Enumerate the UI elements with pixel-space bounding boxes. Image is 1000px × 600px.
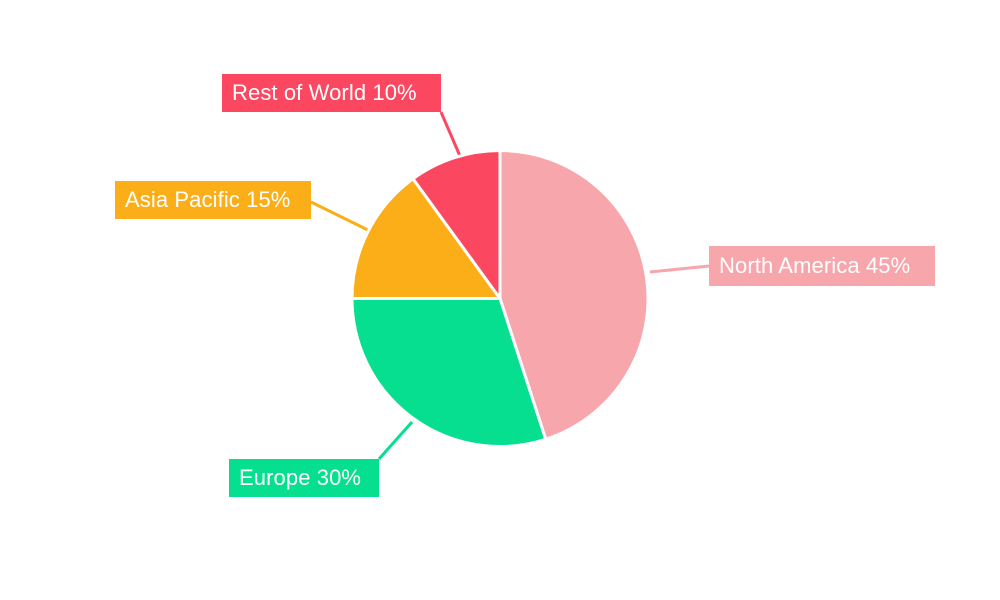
pie-chart-canvas: [0, 0, 1000, 600]
pie-chart-figure: North America 45%Europe 30%Asia Pacific …: [0, 0, 1000, 600]
pie-label-asia-pacific[interactable]: Asia Pacific 15%: [115, 181, 311, 219]
leader-line-europe: [379, 422, 412, 459]
pie-label-europe[interactable]: Europe 30%: [229, 459, 379, 497]
pie-label-rest-of-world[interactable]: Rest of World 10%: [222, 74, 441, 112]
pie-slices-group: [352, 151, 648, 447]
leader-line-north-america: [650, 266, 709, 272]
leader-line-asia-pacific: [311, 202, 372, 232]
pie-label-north-america[interactable]: North America 45%: [709, 246, 935, 286]
